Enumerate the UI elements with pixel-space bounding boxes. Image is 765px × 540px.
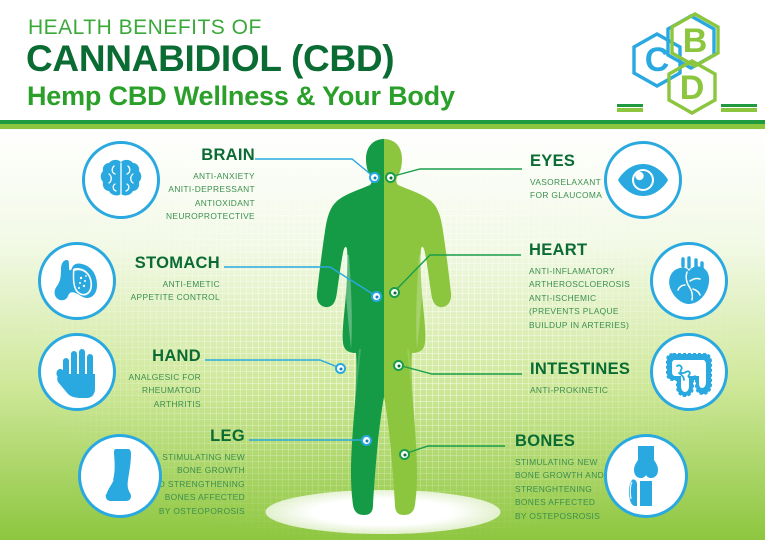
dot-intestines [393, 360, 404, 371]
dot-stomach [371, 291, 382, 302]
heart-icon [663, 255, 715, 307]
header: HEALTH BENEFITS OF CANNABIDIOL (CBD) Hem… [0, 0, 765, 122]
logo-letter-c: C [645, 41, 670, 79]
stomach-icon [51, 256, 103, 306]
brain-icon [97, 156, 145, 204]
label-heart-title: HEART [529, 242, 674, 259]
icon-circle-stomach[interactable] [38, 242, 116, 320]
dot-eyes [385, 172, 396, 183]
infographic-canvas: BRAIN ANTI-ANXIETY ANITI-DEPRESSANT ANTI… [0, 129, 765, 540]
list-item: BUILDUP IN ARTERIES) [529, 319, 674, 333]
icon-circle-eyes[interactable] [604, 141, 682, 219]
icon-circle-hand[interactable] [38, 333, 116, 411]
hand-icon [54, 346, 100, 398]
icon-circle-brain[interactable] [82, 141, 160, 219]
header-subtitle: Hemp CBD Wellness & Your Body [27, 81, 455, 112]
icon-circle-intestines[interactable] [650, 333, 728, 411]
dot-brain [369, 172, 380, 183]
icon-circle-leg[interactable] [78, 434, 162, 518]
dot-heart [389, 287, 400, 298]
dot-leg [361, 435, 372, 446]
icon-circle-heart[interactable] [650, 242, 728, 320]
dot-hand [335, 363, 346, 374]
list-item: (PREVENTS PLAQUE [529, 305, 674, 319]
infographic-root: HEALTH BENEFITS OF CANNABIDIOL (CBD) Hem… [0, 0, 765, 540]
dot-bones [399, 449, 410, 460]
icon-circle-bones[interactable] [604, 434, 688, 518]
logo-letter-b: B [683, 22, 708, 60]
logo-letter-d: D [680, 69, 705, 107]
page-title: CANNABIDIOL (CBD) [26, 38, 394, 80]
header-kicker: HEALTH BENEFITS OF [28, 16, 262, 40]
intestines-icon [663, 346, 715, 398]
eye-icon [616, 160, 670, 200]
leg-icon [98, 447, 142, 505]
knee-joint-icon [622, 446, 670, 506]
cbd-logo: C B D [617, 4, 757, 126]
